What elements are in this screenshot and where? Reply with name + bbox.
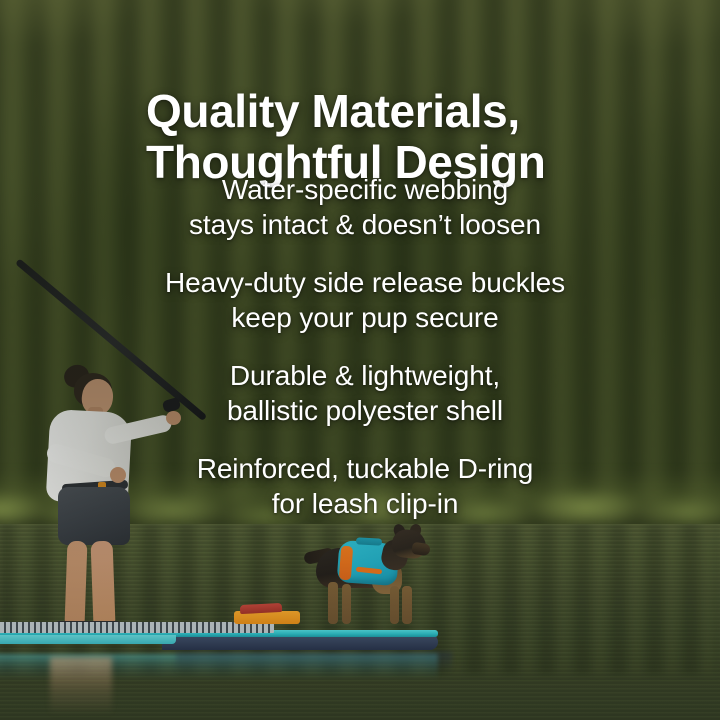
poster-content: Quality Materials, Thoughtful Design Wat…	[0, 0, 720, 720]
benefit-list: Water-specific webbing stays intact & do…	[110, 172, 620, 521]
product-feature-poster: Quality Materials, Thoughtful Design Wat…	[0, 0, 720, 720]
benefit-item-buckles: Heavy-duty side release buckles keep you…	[110, 265, 620, 335]
benefit-item-shell: Durable & lightweight, ballistic polyest…	[110, 358, 620, 428]
benefit-item-webbing: Water-specific webbing stays intact & do…	[110, 172, 620, 242]
benefit-item-d-ring: Reinforced, tuckable D-ring for leash cl…	[110, 451, 620, 521]
